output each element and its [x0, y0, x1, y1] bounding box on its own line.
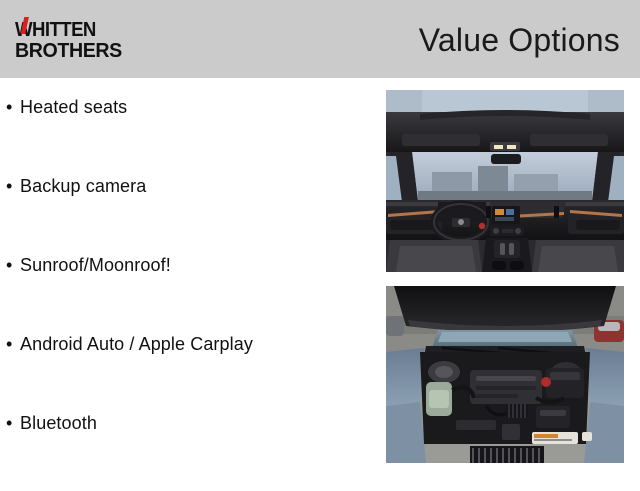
- bullet-marker-icon: •: [6, 412, 20, 434]
- engine-bay-photo: [386, 286, 624, 463]
- list-item-label: Heated seats: [20, 96, 127, 118]
- list-item: • Backup camera: [6, 175, 366, 254]
- bullet-marker-icon: •: [6, 175, 20, 197]
- bullet-marker-icon: •: [6, 333, 20, 355]
- car-interior-illustration: [386, 90, 624, 272]
- list-item: • Heated seats: [6, 96, 366, 175]
- slide-header: WHITTEN BROTHERS Value Options: [0, 0, 640, 78]
- whitten-brothers-logo: WHITTEN BROTHERS: [15, 20, 115, 62]
- value-options-list: • Heated seats • Backup camera • Sunroof…: [6, 96, 366, 491]
- list-item: • Android Auto / Apple Carplay: [6, 333, 366, 412]
- car-interior-photo: [386, 90, 624, 272]
- list-item-label: Android Auto / Apple Carplay: [20, 333, 253, 355]
- bullet-marker-icon: •: [6, 254, 20, 276]
- list-item: • Bluetooth: [6, 412, 366, 491]
- list-item-label: Bluetooth: [20, 412, 97, 434]
- logo-line-brothers: BROTHERS: [15, 41, 113, 61]
- bullet-marker-icon: •: [6, 96, 20, 118]
- engine-bay-illustration: [386, 286, 624, 463]
- list-item-label: Sunroof/Moonroof!: [20, 254, 171, 276]
- slide: WHITTEN BROTHERS Value Options • Heated …: [0, 0, 640, 480]
- list-item-label: Backup camera: [20, 175, 146, 197]
- logo-line-whitten: WHITTEN: [15, 20, 108, 40]
- page-title: Value Options: [419, 22, 620, 59]
- list-item: • Sunroof/Moonroof!: [6, 254, 366, 333]
